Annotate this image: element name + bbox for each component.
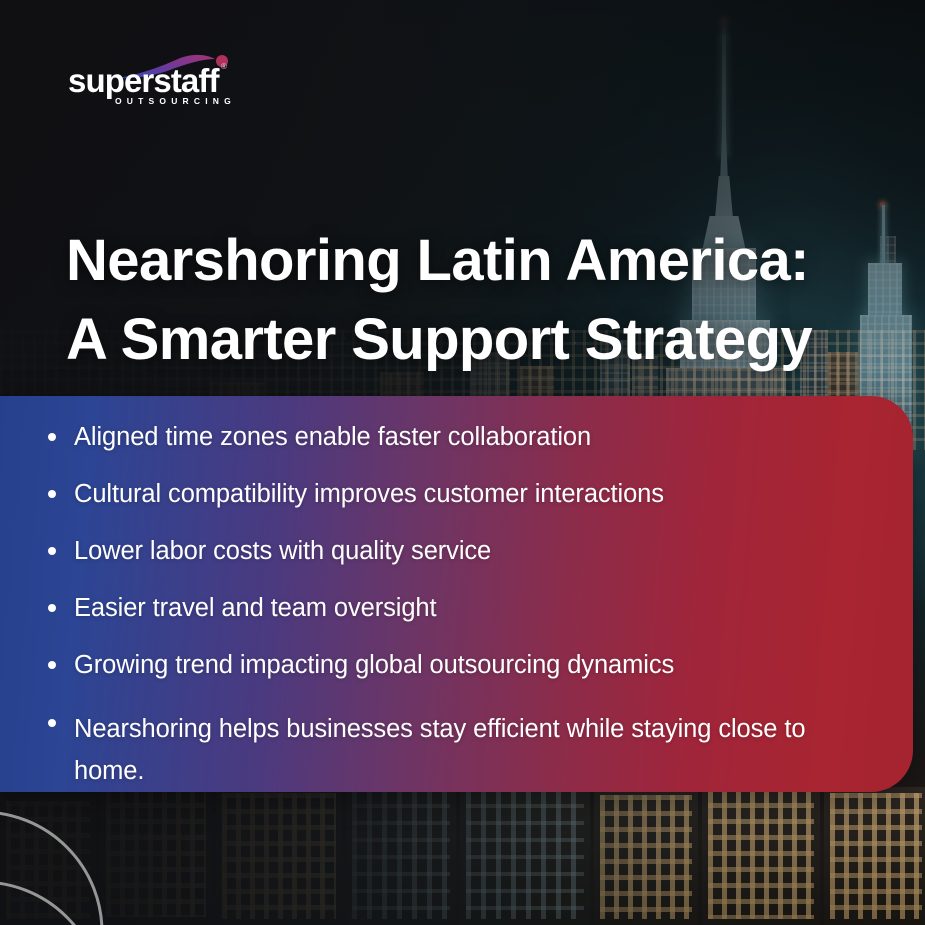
title-line-2: A Smarter Support Strategy [66, 300, 806, 379]
list-item: Aligned time zones enable faster collabo… [44, 422, 877, 453]
title-line-1: Nearshoring Latin America: [66, 221, 806, 300]
logo-trademark-symbol: ® [221, 63, 227, 71]
superstaff-logo[interactable]: superstaff ® OUTSOURCING [68, 55, 243, 105]
poster-canvas: superstaff ® OUTSOURCING Nearshoring Lat… [0, 0, 925, 925]
key-points-list: Aligned time zones enable faster collabo… [44, 422, 877, 793]
key-points-panel: Aligned time zones enable faster collabo… [0, 396, 913, 792]
logo-wordmark: superstaff [68, 64, 219, 97]
list-item: Easier travel and team oversight [44, 593, 877, 624]
logo-tagline: OUTSOURCING [115, 97, 236, 106]
list-item: Lower labor costs with quality service [44, 536, 877, 567]
list-item: Growing trend impacting global outsourci… [44, 650, 877, 681]
list-item: Nearshoring helps businesses stay effici… [44, 708, 877, 794]
list-item: Cultural compatibility improves customer… [44, 479, 877, 510]
page-title: Nearshoring Latin America: A Smarter Sup… [66, 221, 806, 380]
